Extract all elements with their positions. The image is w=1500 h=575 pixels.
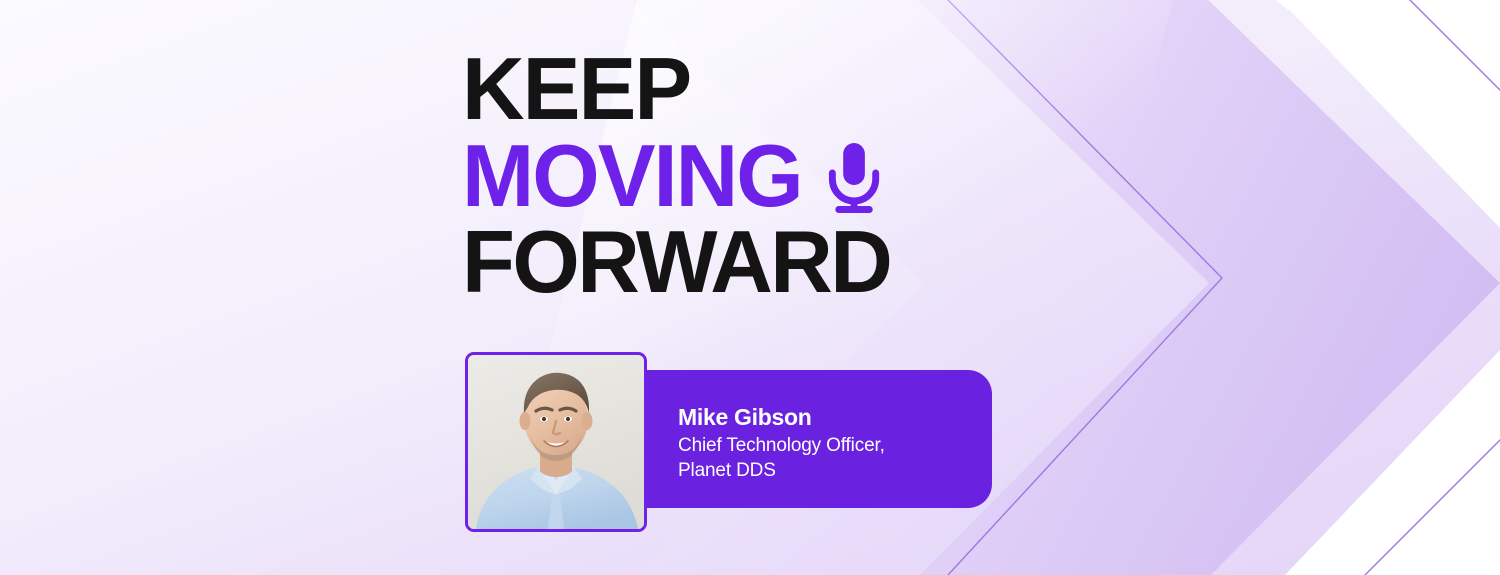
speaker-photo-frame [465,352,647,532]
speaker-name: Mike Gibson [678,403,885,431]
speaker-title-line-1: Chief Technology Officer, [678,433,885,458]
speaker-title-line-2: Planet DDS [678,458,885,483]
microphone-icon [823,140,884,216]
headline-line-2: MOVING [462,133,802,220]
speaker-photo [468,355,644,529]
headline-block: KEEP MOVING FORWARD [462,46,897,306]
headline-line-3: FORWARD [462,219,890,306]
headline-line-1: KEEP [462,46,690,133]
speaker-card-text: Mike Gibson Chief Technology Officer, Pl… [678,403,885,483]
speaker-card: Mike Gibson Chief Technology Officer, Pl… [647,370,992,508]
podcast-banner: KEEP MOVING FORWARD Mike Gibson Chief Te… [0,0,1500,575]
